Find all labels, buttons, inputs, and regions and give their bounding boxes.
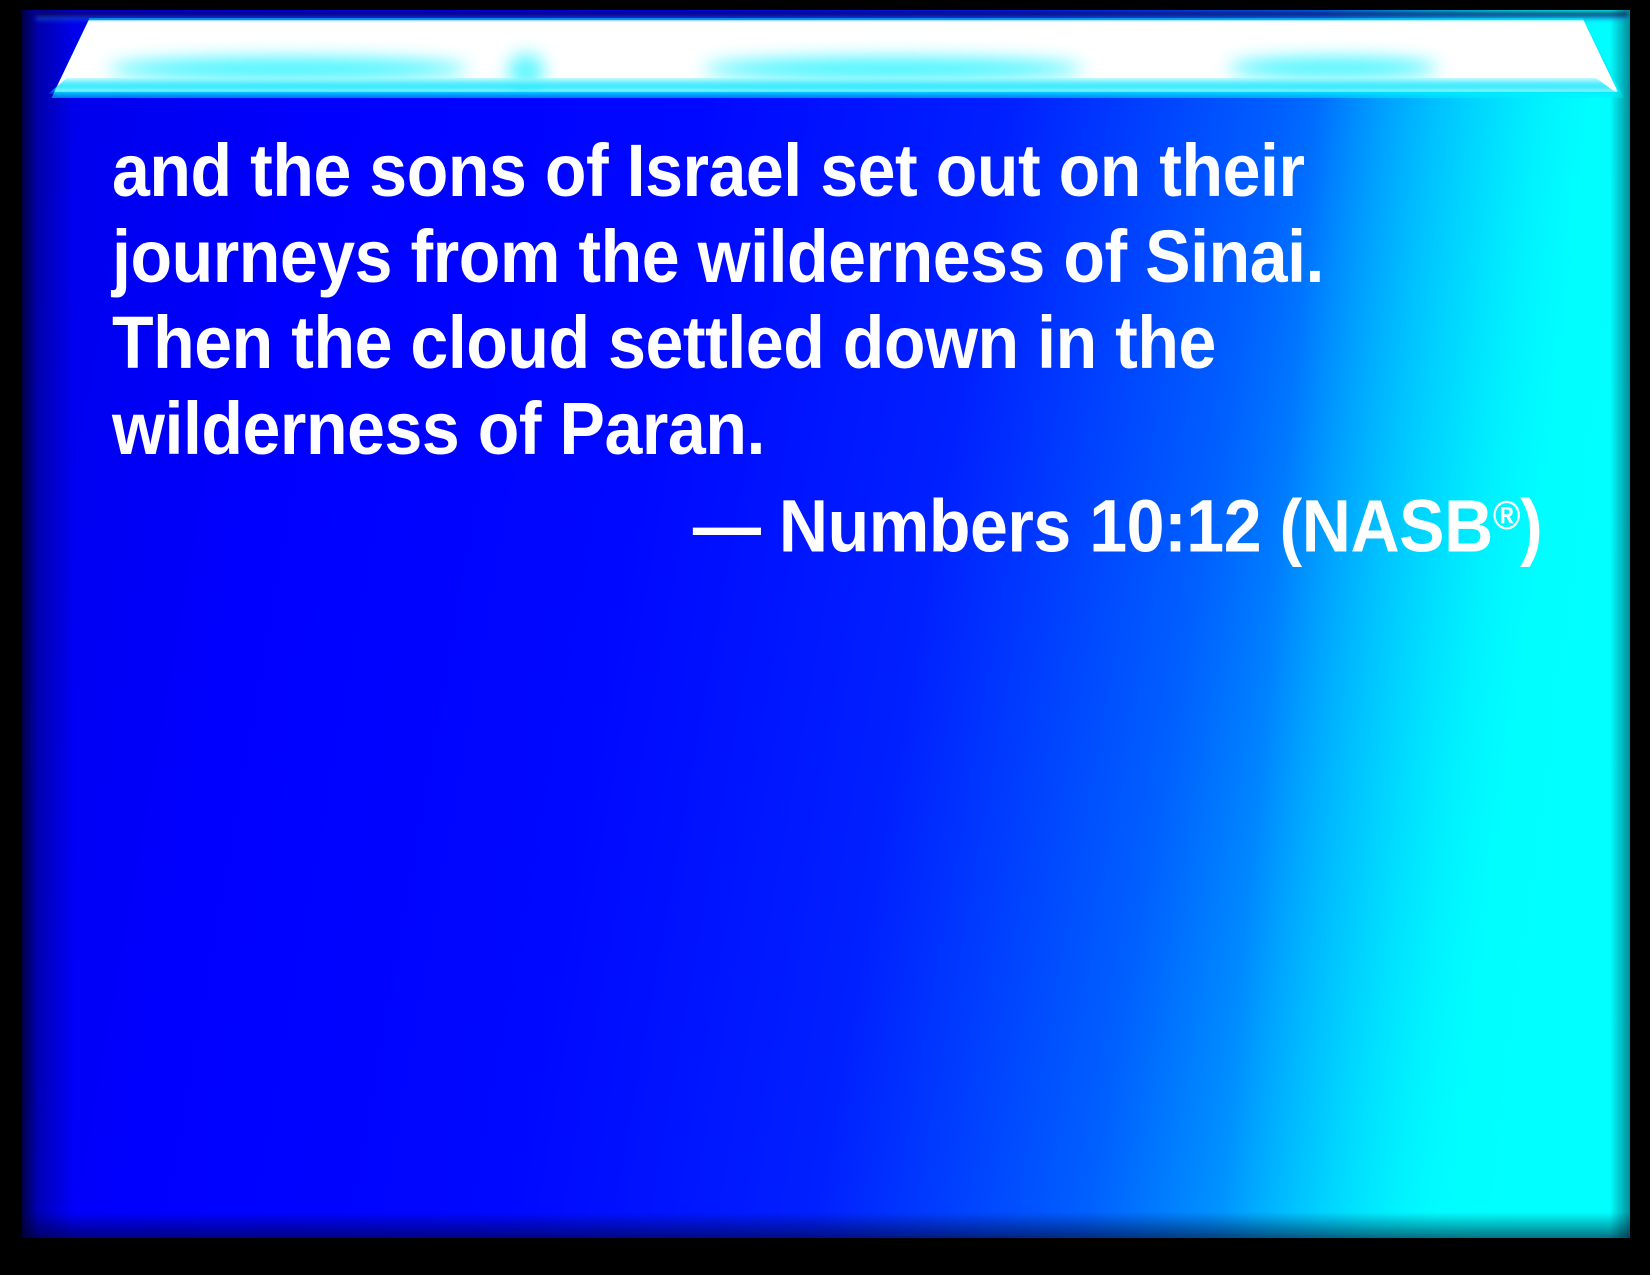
banner-blob-4 bbox=[1228, 58, 1438, 78]
verse-attribution: — Numbers 10:12 (NASB®) bbox=[112, 472, 1542, 569]
verse-line-4: wilderness of Paran. bbox=[112, 386, 1428, 472]
bible-verse-slide: and the sons of Israel set out on their … bbox=[0, 0, 1650, 1275]
banner-blob-1 bbox=[108, 58, 468, 80]
verse-line-1: and the sons of Israel set out on their bbox=[112, 128, 1428, 214]
top-banner bbox=[22, 10, 1630, 106]
verse-line-2: journeys from the wilderness of Sinai. bbox=[112, 214, 1428, 300]
attribution-dash: — bbox=[693, 484, 761, 567]
attribution-inner: — Numbers 10:12 (NASB®) bbox=[693, 472, 1542, 569]
banner-underline-glow bbox=[48, 78, 1618, 94]
verse-line-3: Then the cloud settled down in the bbox=[112, 300, 1428, 386]
slide-canvas: and the sons of Israel set out on their … bbox=[22, 10, 1630, 1238]
attribution-translation-close: ) bbox=[1520, 484, 1542, 567]
attribution-book: Numbers bbox=[779, 484, 1071, 567]
attribution-chapter-verse: 10:12 bbox=[1089, 484, 1261, 567]
attribution-translation-open: (NASB bbox=[1279, 484, 1492, 567]
registered-trademark-icon: ® bbox=[1493, 492, 1520, 538]
banner-blob-3 bbox=[703, 58, 1083, 80]
verse-text-block: and the sons of Israel set out on their … bbox=[112, 128, 1542, 472]
